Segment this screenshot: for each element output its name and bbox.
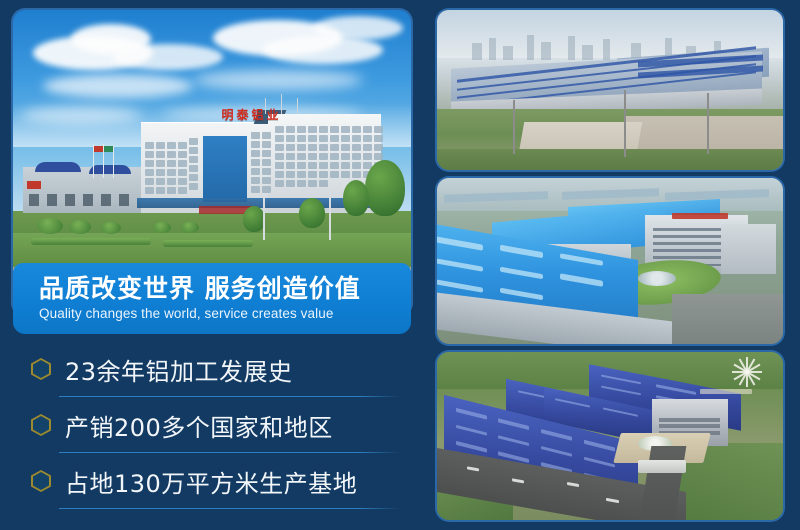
- feature-text: 产销200多个国家和地区: [65, 408, 333, 443]
- hedge-row: [163, 240, 253, 247]
- list-item[interactable]: 23余年铝加工发展史: [13, 341, 411, 397]
- power-pylon: [707, 93, 709, 154]
- rooftop-sign: [672, 213, 727, 220]
- facade-sign: [700, 389, 752, 394]
- cloud-shape: [193, 70, 363, 90]
- workshop-window: [101, 194, 111, 206]
- office-annex: [721, 224, 776, 274]
- power-pylon: [513, 100, 515, 154]
- factory-rendering-image: [437, 352, 783, 520]
- slogan-english: Quality changes the world, service creat…: [39, 306, 411, 321]
- workshop-window: [29, 194, 39, 206]
- plant-road: [672, 294, 783, 344]
- tree: [365, 160, 405, 216]
- window-grid: [189, 138, 198, 190]
- aerial-factory-wide-photo[interactable]: [437, 10, 783, 170]
- bush: [181, 222, 199, 233]
- window-grid: [251, 132, 271, 193]
- bush: [69, 220, 91, 234]
- rooftop-sign-char: 泰: [236, 109, 248, 121]
- list-item[interactable]: 占地130万平方米生产基地: [13, 453, 411, 509]
- rooftop-sign-char: 业: [267, 109, 279, 121]
- tree: [299, 198, 325, 228]
- courtyard-fountain: [638, 271, 676, 286]
- flag-pole: [113, 146, 114, 178]
- workshop-window: [65, 194, 75, 206]
- workshop-blue-roof: [89, 165, 131, 174]
- cloud-shape: [263, 36, 383, 64]
- feature-text: 占地130万平方米生产基地: [65, 464, 357, 499]
- aerial-factory-image: [437, 10, 783, 170]
- hedge-row: [31, 238, 151, 245]
- bush: [153, 222, 171, 233]
- feature-list: 23余年铝加工发展史 产销200多个国家和地区 占地130万平方米生产基地: [13, 341, 411, 509]
- workshop-red-sign: [27, 181, 41, 189]
- tree: [243, 206, 265, 232]
- building-entrance-facade: [203, 136, 247, 202]
- rooftop-sign-char: 明: [221, 109, 233, 121]
- flag-green: [104, 146, 113, 152]
- cloud-shape: [313, 16, 403, 40]
- roof-antenna: [297, 98, 298, 114]
- factory-3d-rendering-photo[interactable]: [437, 352, 783, 520]
- cloud-shape: [113, 44, 223, 70]
- window-grid: [145, 142, 187, 194]
- list-item[interactable]: 产销200多个国家和地区: [13, 397, 411, 453]
- promo-page: 明 泰 铝 业: [0, 0, 800, 530]
- slogan-banner: 品质改变世界 服务创造价值 Quality changes the world,…: [13, 263, 411, 334]
- slogan-chinese: 品质改变世界 服务创造价值: [39, 276, 411, 302]
- sun-flare-icon: [732, 357, 762, 387]
- workshop-window: [119, 194, 129, 206]
- bush: [101, 222, 121, 234]
- list-divider: [59, 508, 401, 509]
- aerial-blue-roof-plant-photo[interactable]: [437, 178, 783, 344]
- feature-text: 23余年铝加工发展史: [65, 352, 293, 387]
- hexagon-bullet-icon: [31, 414, 51, 436]
- rooftop-sign-char: 铝: [252, 109, 264, 121]
- bush: [37, 218, 63, 234]
- blue-roof-plant-image: [437, 178, 783, 344]
- hexagon-bullet-icon: [31, 470, 51, 492]
- light-pole: [329, 192, 331, 240]
- foreground-trees: [437, 149, 783, 170]
- workshop-blue-roof: [35, 162, 81, 172]
- workshop-window: [83, 194, 93, 206]
- left-column: 明 泰 铝 业: [13, 10, 411, 520]
- tree: [343, 180, 369, 216]
- hexagon-bullet-icon: [31, 358, 51, 380]
- gatehouse: [638, 460, 686, 473]
- rooftop-company-sign: 明 泰 铝 业: [209, 107, 291, 122]
- light-pole: [263, 196, 265, 240]
- flag-red: [94, 146, 103, 152]
- workshop-window: [47, 194, 57, 206]
- power-pylon: [624, 90, 626, 157]
- cloud-shape: [43, 74, 193, 98]
- right-column: [437, 10, 783, 520]
